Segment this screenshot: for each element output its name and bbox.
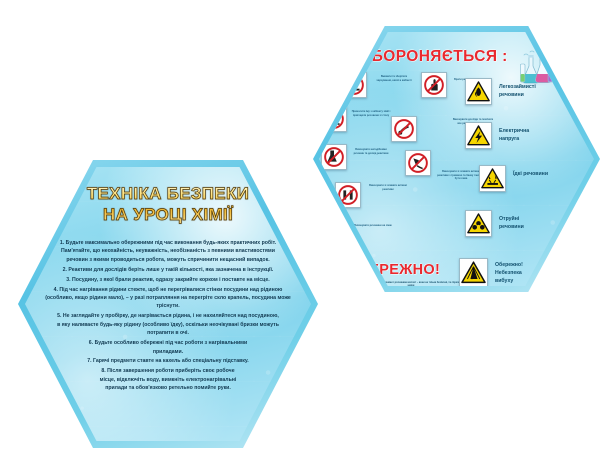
explosion-warning-icon bbox=[459, 258, 488, 286]
electricity-warning-icon bbox=[465, 122, 492, 149]
safety-rule-item: 6. Будьте особливо обережні під час робо… bbox=[31, 339, 305, 356]
page-title-line1: ТЕХНІКА БЕЗПЕКИ bbox=[25, 183, 311, 204]
warning-label: Легкозаймисті речовини bbox=[499, 84, 545, 100]
no-smelling-icon bbox=[391, 116, 417, 142]
corrosive-warning-icon bbox=[479, 165, 506, 192]
safety-rules-content: ТЕХНІКА БЕЗПЕКИ НА УРОЦІ ХІМІЇ 1. Будьте… bbox=[25, 167, 311, 441]
safety-rule-item: 2. Реактиви для дослідів беріть лише у т… bbox=[31, 266, 305, 274]
page-title-line2: НА УРОЦІ ХІМІЇ bbox=[25, 204, 311, 225]
prohibition-label: Приносити їжу з кабінету хімії і пригоща… bbox=[351, 110, 391, 117]
prohibition-label: Виконувати зі зливати активні реактиви з… bbox=[437, 170, 485, 181]
safety-rules-list: 1. Будьте максимально обережними під час… bbox=[31, 239, 305, 394]
safety-rule-item: 5. Не заглядайте у пробірку, де нагріває… bbox=[31, 312, 305, 337]
warning-label: Їдкі речовини bbox=[513, 171, 559, 179]
flammable-warning-icon bbox=[465, 78, 492, 105]
careful-note: Будьте особливо обережні з лужними і роз… bbox=[347, 281, 475, 286]
safety-rule-item: 1. Будьте максимально обережними під час… bbox=[31, 239, 305, 264]
no-open-flame-icon bbox=[321, 106, 347, 132]
prohibitions-content: ЗАБОРОНЯЄТЬСЯ : bbox=[319, 32, 594, 286]
no-touching-hand-icon bbox=[421, 72, 447, 98]
safety-rule-item: 3. Посудину, з якої брали реактив, одраз… bbox=[31, 276, 305, 284]
no-spill-icon bbox=[405, 150, 431, 176]
no-taste-icon bbox=[321, 218, 347, 244]
prohibitions-title: ЗАБОРОНЯЄТЬСЯ : bbox=[350, 48, 508, 66]
safety-rule-item: 8. Після завершення роботи приберіть сво… bbox=[31, 367, 305, 392]
toxic-warning-icon bbox=[465, 210, 492, 237]
safety-rule-item: 7. Гарячі предмети ставте на кахель або … bbox=[31, 357, 305, 365]
prohibitions-hexagon-inner: ЗАБОРОНЯЄТЬСЯ : bbox=[319, 32, 594, 286]
no-mixing-icon bbox=[335, 182, 361, 208]
prohibition-label: Вживати та зберігати харчування, напої в… bbox=[373, 75, 415, 82]
careful-title: ОБЕРЕЖНО! bbox=[347, 262, 440, 278]
no-pouring-icon bbox=[321, 144, 347, 170]
warning-label: Обережно! Небезпека вибуху bbox=[495, 262, 541, 285]
page-title: ТЕХНІКА БЕЗПЕКИ НА УРОЦІ ХІМІЇ bbox=[25, 183, 311, 226]
no-eating-drinking-icon bbox=[341, 72, 367, 98]
prohibition-label: Виконувати неподібними речовин та досвід… bbox=[351, 148, 391, 155]
warning-label: Отруйні речовини bbox=[499, 216, 545, 232]
safety-rules-hexagon: ТЕХНІКА БЕЗПЕКИ НА УРОЦІ ХІМІЇ 1. Будьте… bbox=[18, 160, 318, 448]
safety-rule-item: 4. Під час нагрівання рідини стежте, щоб… bbox=[31, 286, 305, 311]
poster-canvas: ЗАБОРОНЯЄТЬСЯ : bbox=[0, 0, 600, 456]
prohibitions-hexagon: ЗАБОРОНЯЄТЬСЯ : bbox=[313, 26, 600, 292]
safety-rules-hexagon-inner: ТЕХНІКА БЕЗПЕКИ НА УРОЦІ ХІМІЇ 1. Будьте… bbox=[25, 167, 311, 441]
warning-label: Електрична напруга bbox=[499, 128, 545, 144]
chemistry-flasks-illustration bbox=[517, 50, 559, 86]
prohibition-label: Виконувати зі зливати активні реактиви bbox=[367, 184, 409, 191]
prohibition-label: Виконувати речовини на смак bbox=[353, 224, 393, 228]
